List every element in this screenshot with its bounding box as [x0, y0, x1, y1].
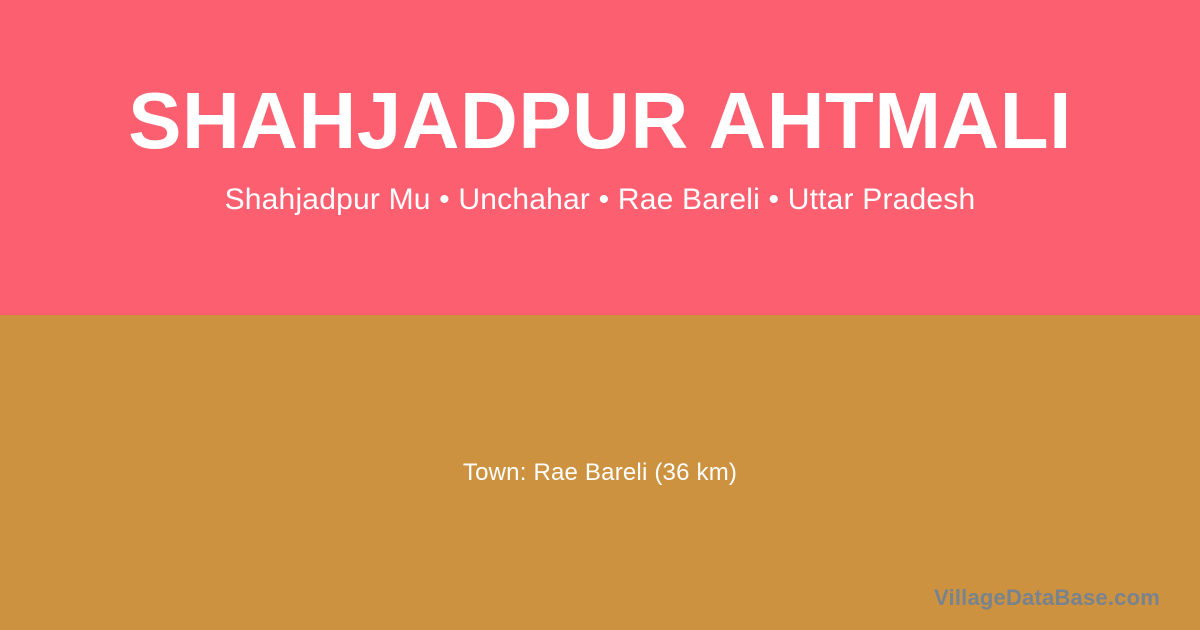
village-info-card: SHAHJADPUR AHTMALI Shahjadpur Mu • Uncha… — [0, 0, 1200, 630]
hero-banner: SHAHJADPUR AHTMALI Shahjadpur Mu • Uncha… — [0, 0, 1200, 315]
details-band: Town: Rae Bareli (36 km) VillageDataBase… — [0, 315, 1200, 630]
location-breadcrumb: Shahjadpur Mu • Unchahar • Rae Bareli • … — [0, 182, 1200, 218]
nearest-town-fact: Town: Rae Bareli (36 km) — [0, 315, 1200, 630]
site-watermark: VillageDataBase.com — [934, 584, 1160, 612]
page-title: SHAHJADPUR AHTMALI — [0, 78, 1200, 164]
